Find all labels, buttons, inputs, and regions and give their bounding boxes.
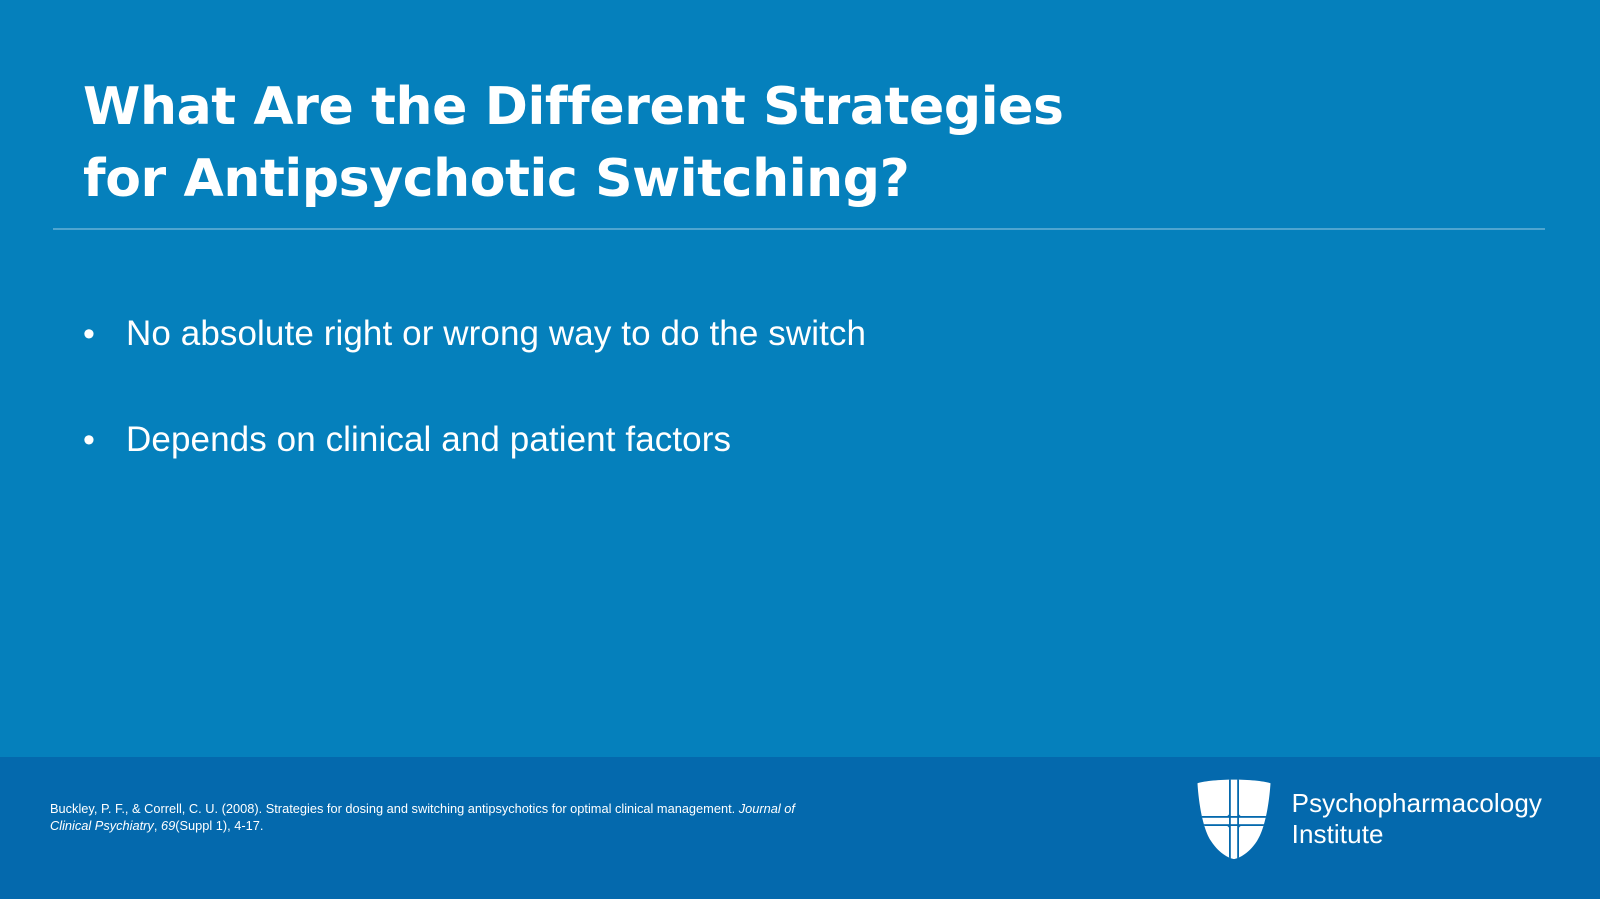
footer-band: Buckley, P. F., & Correll, C. U. (2008).… [0, 757, 1600, 899]
bullet-list: • No absolute right or wrong way to do t… [80, 310, 1380, 465]
bullet-marker-icon: • [80, 416, 126, 464]
bullet-marker-icon: • [80, 310, 126, 358]
shield-logo-icon [1195, 779, 1273, 859]
list-item-label: Depends on clinical and patient factors [126, 416, 1380, 464]
list-item: • Depends on clinical and patient factor… [80, 416, 1380, 464]
page-title: What Are the Different Strategies for An… [83, 72, 1113, 216]
citation-reference: Buckley, P. F., & Correll, C. U. (2008).… [50, 801, 810, 835]
brand-wordmark: Psychopharmacology Institute [1292, 788, 1542, 849]
list-item-label: No absolute right or wrong way to do the… [126, 310, 1380, 358]
brand-line-2: Institute [1292, 819, 1542, 850]
brand-lockup: Psychopharmacology Institute [1195, 779, 1542, 859]
citation-volume: 69 [161, 818, 175, 833]
citation-text-tail: (Suppl 1), 4-17. [175, 818, 263, 833]
citation-separator: , [154, 818, 161, 833]
title-block: What Are the Different Strategies for An… [83, 72, 1113, 216]
brand-line-1: Psychopharmacology [1292, 788, 1542, 818]
slide: What Are the Different Strategies for An… [0, 0, 1600, 899]
title-divider [53, 228, 1545, 230]
citation-text-lead: Buckley, P. F., & Correll, C. U. (2008).… [50, 801, 739, 816]
list-item: • No absolute right or wrong way to do t… [80, 310, 1380, 358]
